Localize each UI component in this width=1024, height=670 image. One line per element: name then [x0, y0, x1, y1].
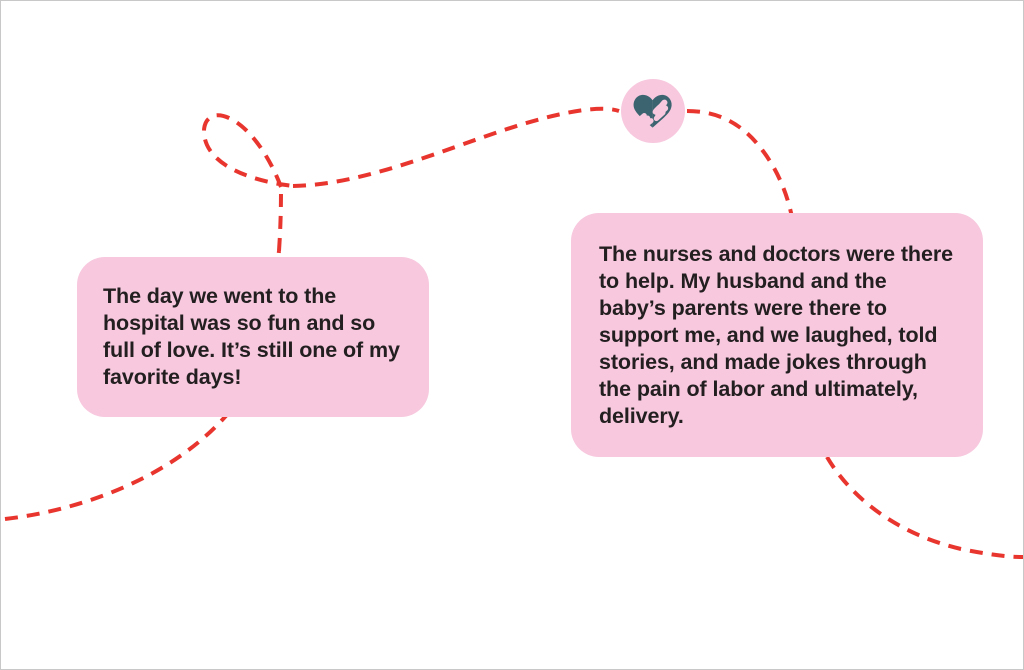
handshake-heart-icon: [631, 91, 675, 131]
story-card-left-text: The day we went to the hospital was so f…: [103, 283, 403, 391]
story-card-right: The nurses and doctors were there to hel…: [571, 213, 983, 457]
handshake-heart-badge[interactable]: [621, 79, 685, 143]
illustration-canvas: The day we went to the hospital was so f…: [0, 0, 1024, 670]
story-card-left: The day we went to the hospital was so f…: [77, 257, 429, 417]
path-segment-lower-right: [827, 457, 1023, 557]
story-card-right-text: The nurses and doctors were there to hel…: [599, 241, 955, 430]
path-segment-lower-left: [5, 401, 238, 519]
path-segment-to-badge: [293, 109, 619, 186]
path-segment-stem: [279, 187, 281, 251]
path-segment-loop: [204, 115, 293, 187]
